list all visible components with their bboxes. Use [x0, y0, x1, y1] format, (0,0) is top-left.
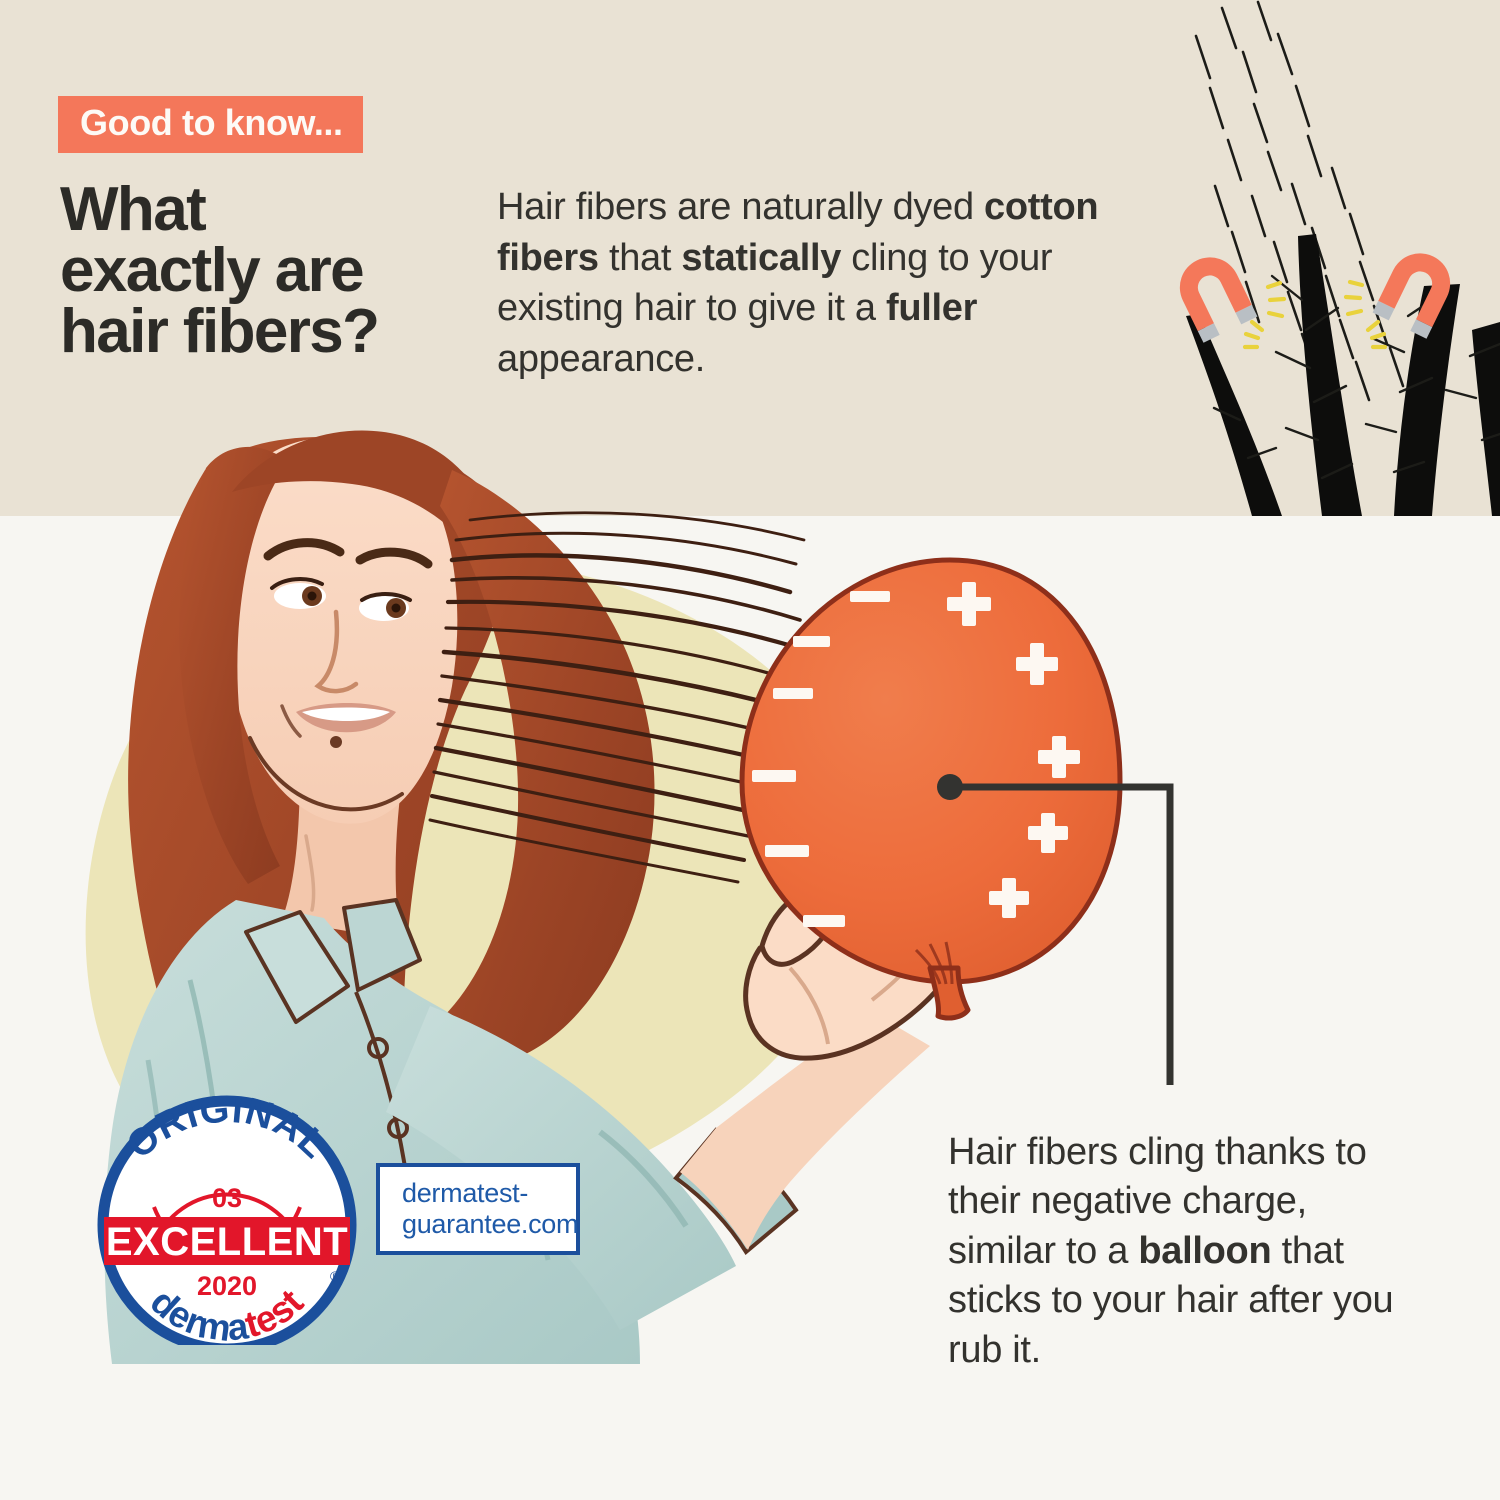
- page-title: What exactly are hair fibers?: [60, 180, 490, 362]
- seal-registered-mark: ®: [330, 1268, 341, 1284]
- seal-year: 2020: [197, 1271, 257, 1301]
- magnet-icon: [1170, 247, 1258, 343]
- fiber-magnet-illustration: [1170, 2, 1500, 516]
- lead-text-1: Hair fibers are naturally dyed: [497, 186, 984, 228]
- headline-line-1: What: [60, 180, 490, 241]
- lead-paragraph: Hair fibers are naturally dyed cotton fi…: [497, 182, 1157, 384]
- url-line-1: dermatest-: [402, 1178, 528, 1208]
- url-line-2: guarantee.com: [402, 1209, 578, 1239]
- lead-text-4: appearance.: [497, 338, 705, 380]
- lead-bold-3: fuller: [886, 287, 977, 329]
- falling-fibers: [1196, 2, 1403, 400]
- lead-text-2: that: [599, 237, 682, 279]
- dermatest-url-badge[interactable]: dermatest- guarantee.com: [376, 1163, 580, 1255]
- seal-rating-text: EXCELLENT: [106, 1220, 348, 1264]
- url-badge-text: dermatest- guarantee.com: [402, 1178, 578, 1241]
- headline-line-3: hair fibers?: [60, 302, 490, 363]
- balloon-caption: Hair fibers cling thanks to their negati…: [948, 1128, 1418, 1375]
- caption-bold-1: balloon: [1138, 1230, 1271, 1272]
- eyebrow-badge: Good to know...: [58, 96, 363, 153]
- seal-number: 03: [212, 1183, 242, 1213]
- headline-line-2: exactly are: [60, 241, 490, 302]
- lead-bold-2: statically: [681, 237, 841, 279]
- dermatest-seal[interactable]: ORIGINAL 03 EXCELLENT 2020 dermatest ®: [82, 1085, 372, 1345]
- infographic-canvas: Good to know... What exactly are hair fi…: [0, 0, 1500, 1500]
- attached-fibers: [1214, 276, 1500, 478]
